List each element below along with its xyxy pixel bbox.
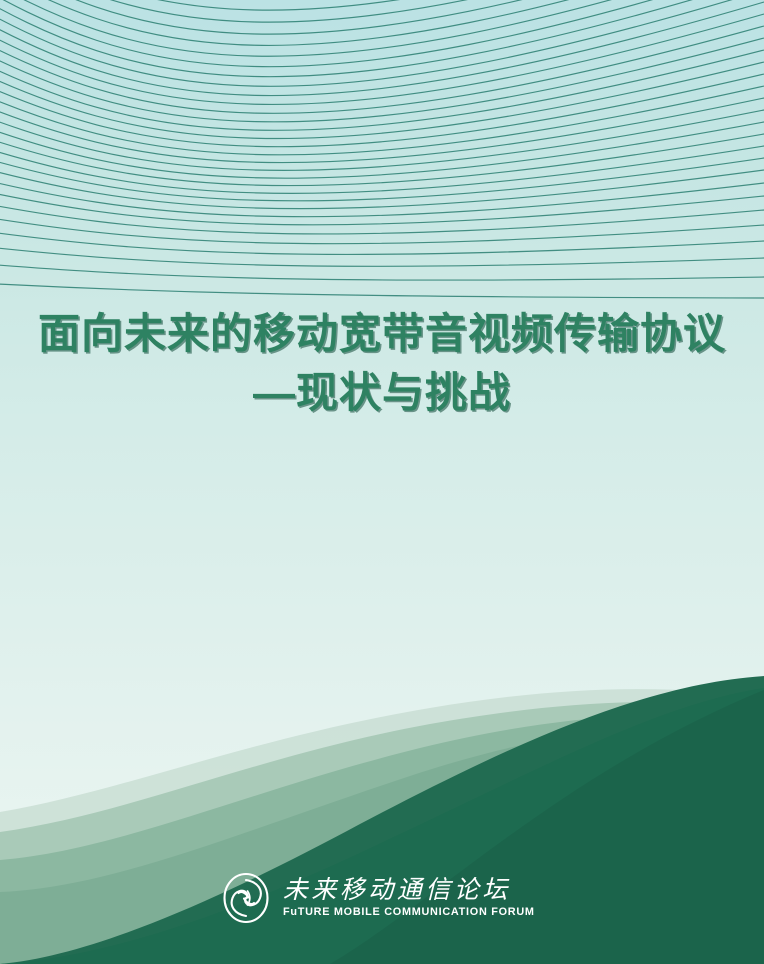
page-title: 面向未来的移动宽带音视频传输协议 —现状与挑战 xyxy=(0,306,764,421)
title-line-secondary: —现状与挑战 xyxy=(0,365,764,420)
organization-logo: 未来移动通信论坛 FuTURE MOBILE COMMUNICATION FOR… xyxy=(0,872,764,924)
logo-wordmark: 未来移动通信论坛 FuTURE MOBILE COMMUNICATION FOR… xyxy=(283,876,542,920)
organization-name-cn: 未来移动通信论坛 xyxy=(283,876,511,903)
concentric-arc-line-fan xyxy=(0,0,764,300)
document-cover: 面向未来的移动宽带音视频传输协议 —现状与挑战 未来移 xyxy=(0,0,764,964)
title-line-primary: 面向未来的移动宽带音视频传输协议 xyxy=(0,306,764,361)
future-forum-swirl-icon xyxy=(222,872,270,924)
organization-name-en: FuTURE MOBILE COMMUNICATION FORUM xyxy=(283,905,535,920)
